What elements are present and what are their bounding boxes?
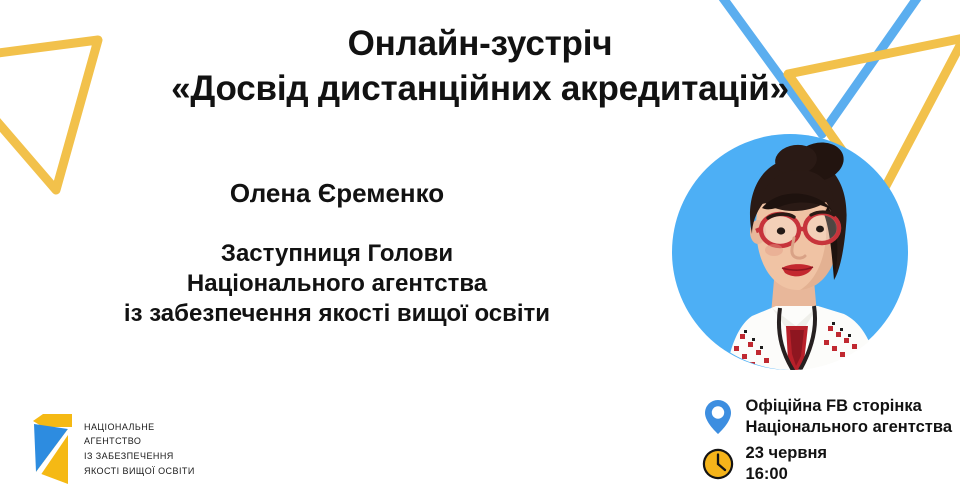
event-location-text: Офіційна FB сторінка Національного агент… xyxy=(746,396,952,437)
speaker-role-line-2: Національного агентства xyxy=(22,269,652,299)
event-location-row: Офіційна FB сторінка Національного агент… xyxy=(700,396,952,437)
speaker-name: Олена Єременко xyxy=(22,178,652,209)
event-info: Офіційна FB сторінка Національного агент… xyxy=(700,396,952,484)
event-location-line-2: Національного агентства xyxy=(746,417,952,437)
national-agency-logo: НАЦІОНАЛЬНЕ АГЕНТСТВО ІЗ ЗАБЕЗПЕЧЕННЯ ЯК… xyxy=(28,410,195,488)
logo-text-line-4: ЯКОСТІ ВИЩОЇ ОСВІТИ xyxy=(84,464,195,479)
event-date: 23 червня xyxy=(746,443,828,463)
national-agency-logo-mark-icon xyxy=(28,410,74,488)
speaker-role: Заступниця Голови Національного агентств… xyxy=(22,239,652,330)
logo-text: НАЦІОНАЛЬНЕ АГЕНТСТВО ІЗ ЗАБЕЗПЕЧЕННЯ ЯК… xyxy=(84,420,195,478)
headline-line-2: «Досвід дистанційних акредитацій» xyxy=(0,67,960,112)
speaker-photo xyxy=(672,134,908,370)
logo-text-line-1: НАЦІОНАЛЬНЕ xyxy=(84,420,195,435)
headline-line-1: Онлайн-зустріч xyxy=(0,22,960,67)
speaker-role-line-3: із забезпечення якості вищої освіти xyxy=(22,299,652,329)
speaker-role-line-1: Заступниця Голови xyxy=(22,239,652,269)
clock-icon xyxy=(700,444,736,484)
speaker-portrait-illustration xyxy=(668,130,916,382)
presentation-slide: Онлайн-зустріч «Досвід дистанційних акре… xyxy=(0,0,960,502)
logo-text-line-3: ІЗ ЗАБЕЗПЕЧЕННЯ xyxy=(84,449,195,464)
speaker-block: Олена Єременко Заступниця Голови Націона… xyxy=(22,178,652,330)
event-time: 16:00 xyxy=(746,464,828,484)
event-location-line-1: Офіційна FB сторінка xyxy=(746,396,952,416)
slide-headline: Онлайн-зустріч «Досвід дистанційних акре… xyxy=(0,22,960,112)
map-pin-icon xyxy=(700,397,736,437)
logo-text-line-2: АГЕНТСТВО xyxy=(84,434,195,449)
event-schedule-row: 23 червня 16:00 xyxy=(700,443,952,484)
event-schedule-text: 23 червня 16:00 xyxy=(746,443,828,484)
